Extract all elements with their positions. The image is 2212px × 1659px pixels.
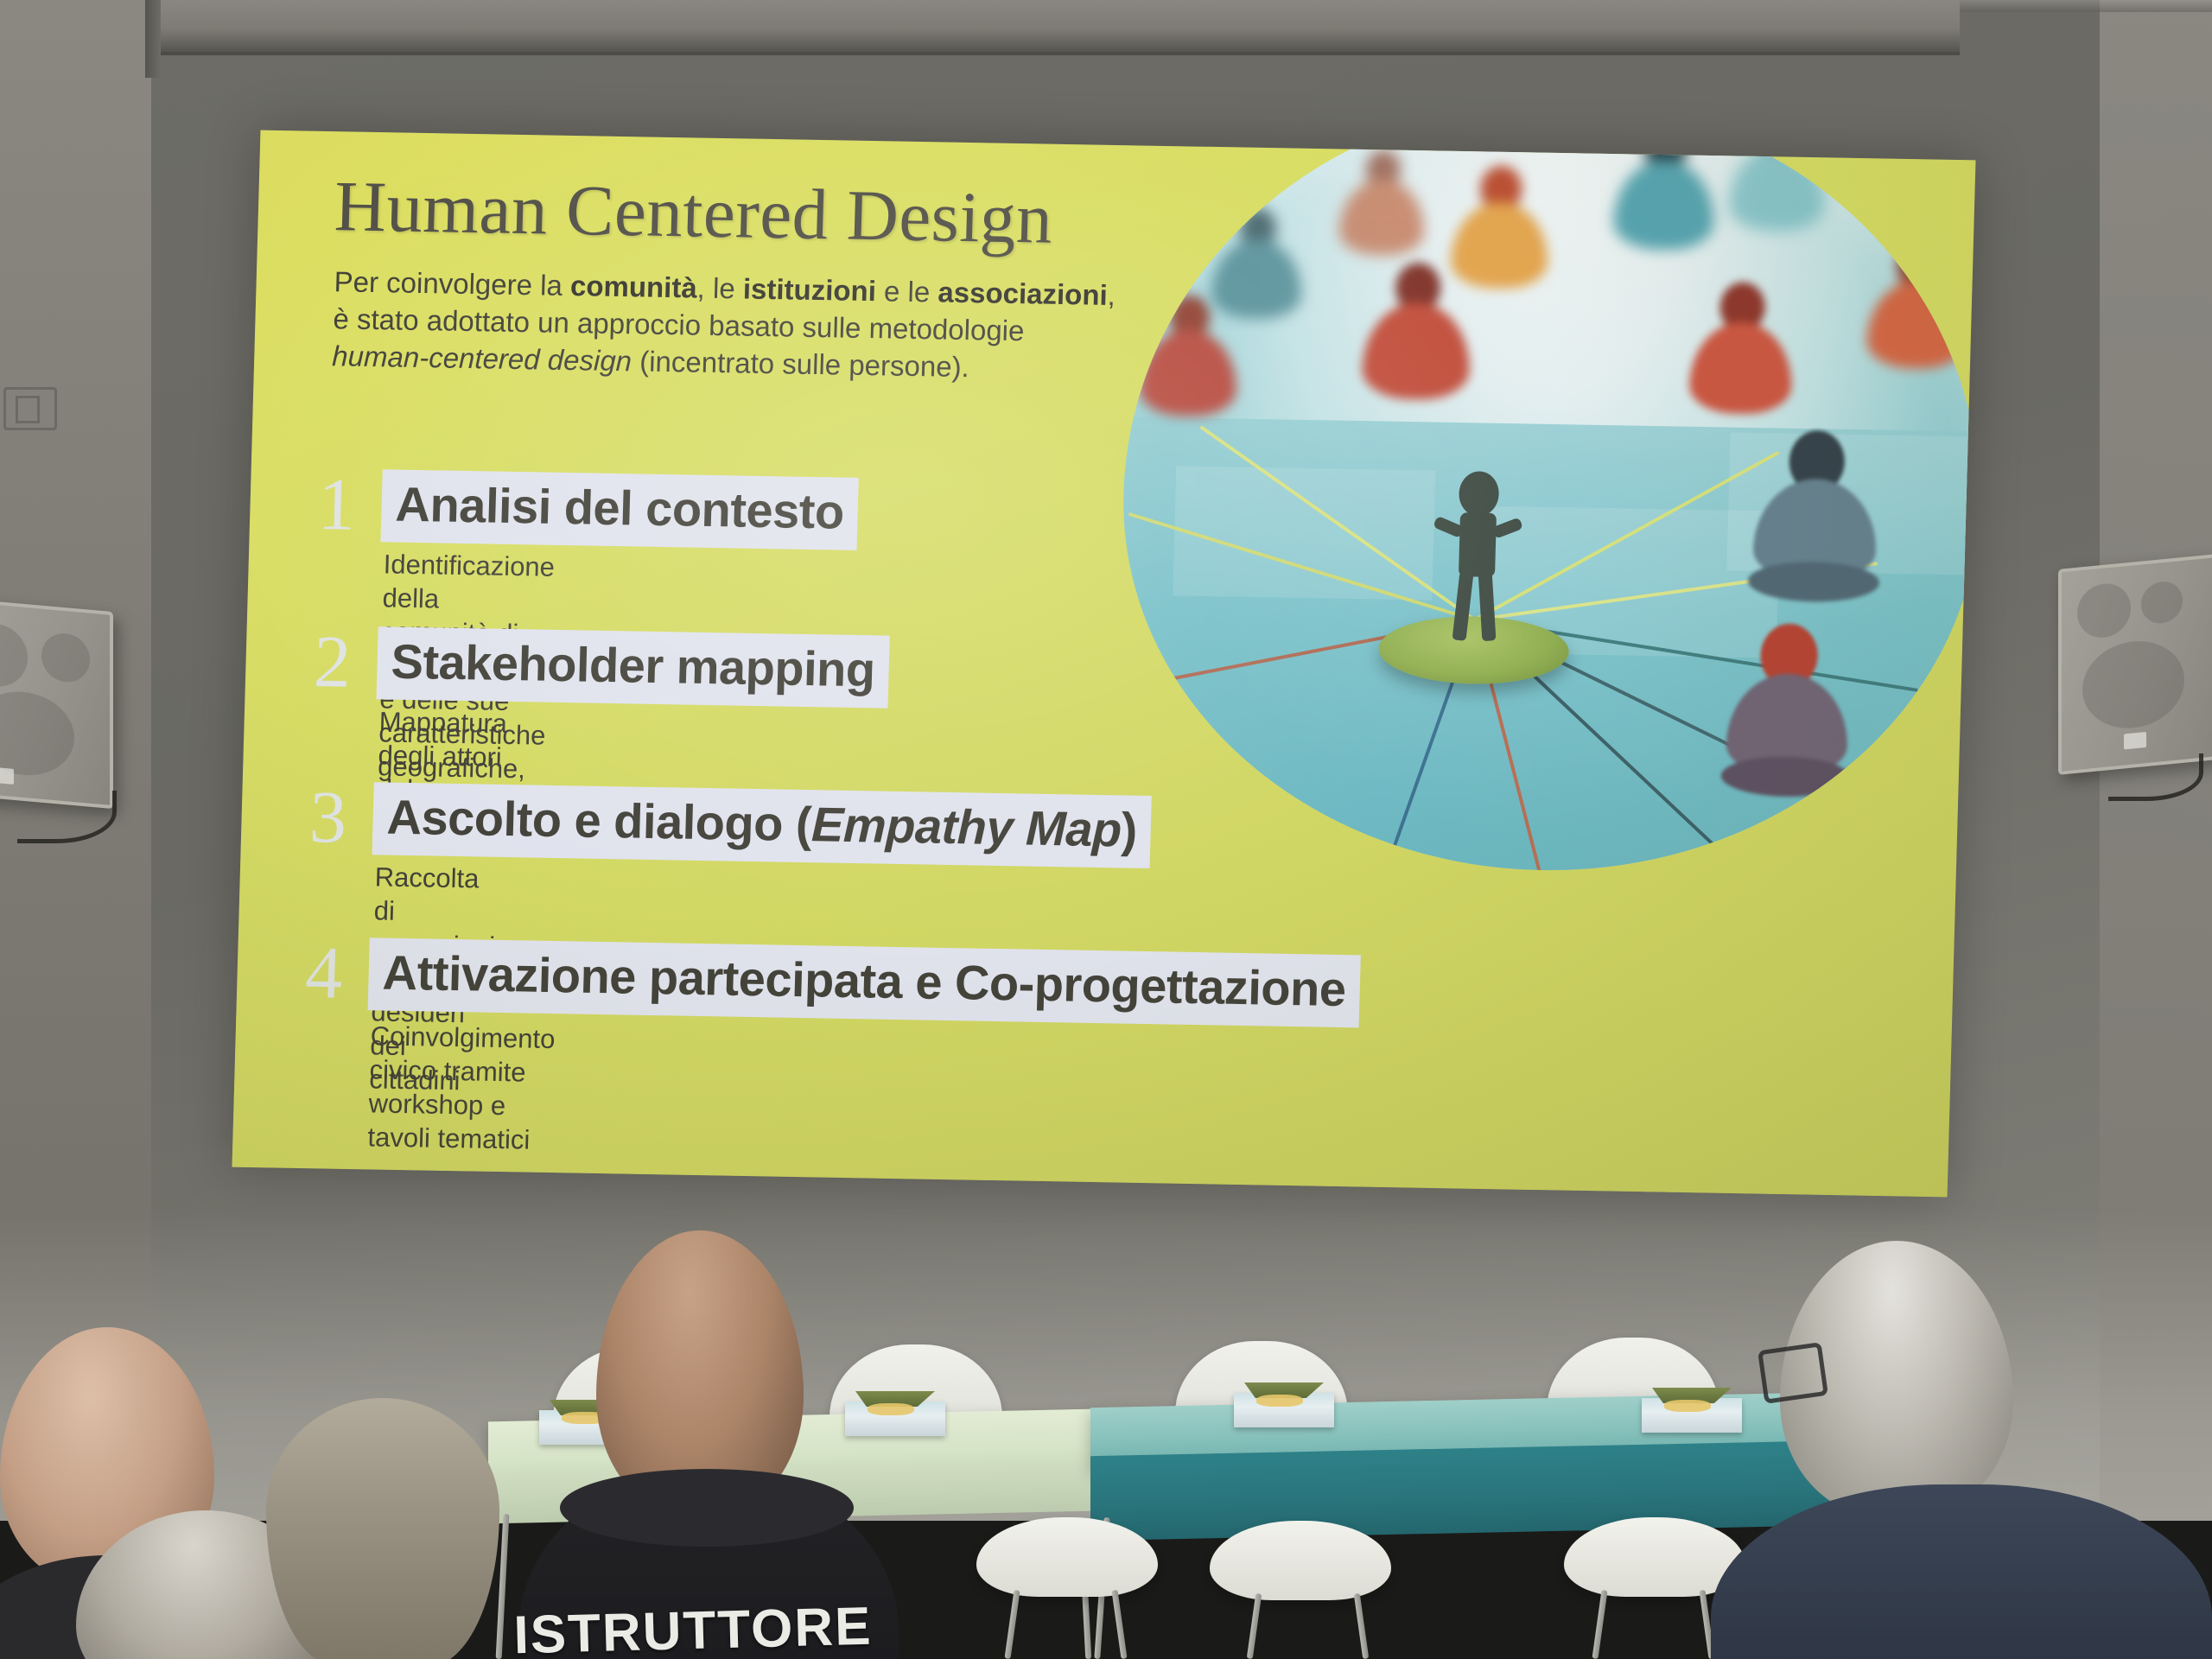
photo-circle-mask xyxy=(1114,130,1976,878)
intro-line1-mid1: , le xyxy=(696,272,743,305)
list-item-heading: Analisi del contesto xyxy=(380,469,858,550)
intro-line3-post: (incentrato sulle persone). xyxy=(632,345,970,383)
photo-figure xyxy=(1749,429,1883,596)
intro-bold-comunita: comunità xyxy=(570,270,698,304)
list-item-number: 1 xyxy=(301,467,372,542)
intro-line3-italic: human-centered design xyxy=(332,340,632,377)
intro-line2: è stato adottato un approccio basato sul… xyxy=(333,302,1025,346)
heading-part-tail: ) xyxy=(1121,802,1138,856)
photo-figure xyxy=(1610,130,1719,260)
intro-line1-post: , xyxy=(1107,279,1116,311)
intro-line1-mid2: e le xyxy=(875,275,938,308)
book-stack xyxy=(1642,1398,1742,1433)
list-item-heading: Attivazione partecipata e Co-progettazio… xyxy=(368,938,1361,1027)
list-item-number: 4 xyxy=(289,935,359,1010)
slide-photo-network-of-people xyxy=(1114,130,1976,878)
photo-figure xyxy=(1720,623,1854,790)
book-stack xyxy=(845,1402,945,1436)
photo-figure xyxy=(1686,282,1796,423)
page-title: Human Centered Design xyxy=(334,164,1054,260)
photo-figure xyxy=(1336,149,1429,264)
photo-figure xyxy=(1447,165,1553,296)
intro-bold-associazioni: associazioni xyxy=(938,276,1108,310)
hoodie-collar xyxy=(560,1469,854,1547)
audience-head-long-hair-woman xyxy=(266,1398,499,1659)
list-item-heading: Ascolto e dialogo (Empathy Map) xyxy=(372,782,1152,868)
table-teal-front xyxy=(1090,1440,1851,1541)
heading-part-italic: Empathy Map xyxy=(810,797,1122,856)
list-item-number: 2 xyxy=(296,624,367,699)
intro-bold-istituzioni: istituzioni xyxy=(742,272,876,307)
presentation-slide: Human Centered Design Per coinvolgere la… xyxy=(232,130,1976,1198)
list-item-heading: Stakeholder mapping xyxy=(376,626,889,708)
hoodie-text-label: ISTRUTTORE xyxy=(511,1596,875,1659)
book-stack xyxy=(1234,1393,1334,1427)
photo-figure xyxy=(1864,241,1971,378)
list-item-number: 3 xyxy=(293,779,364,855)
slide-intro-paragraph: Per coinvolgere la comunità, le istituzi… xyxy=(332,263,1225,390)
intro-line1-pre: Per coinvolgere la xyxy=(334,265,570,302)
photo-center-figure xyxy=(1377,470,1573,690)
photo-center-person-icon xyxy=(1433,471,1520,642)
room-scene: Human Centered Design Per coinvolgere la… xyxy=(0,0,2212,1659)
heading-part-lead: Ascolto e dialogo ( xyxy=(386,790,812,852)
photo-figure xyxy=(1726,130,1829,241)
eyeglasses-icon xyxy=(1758,1342,1828,1404)
list-item-description: Coinvolgimento civico tramite workshop e… xyxy=(367,1019,556,1157)
